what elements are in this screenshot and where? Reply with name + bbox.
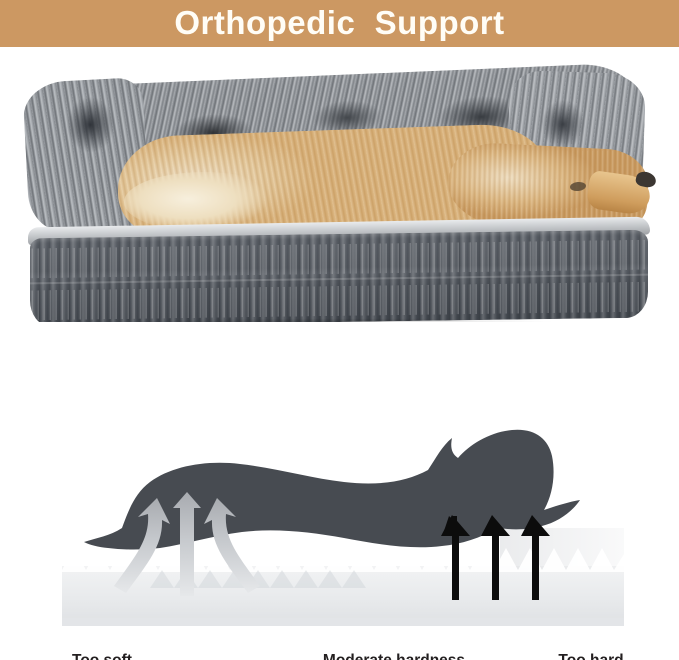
- foam-diagram-svg: [0, 420, 679, 660]
- mattress-texture-lower: [30, 282, 648, 321]
- foam-cross-section-diagram: Increased Airflow Soothes Pressure Point…: [0, 420, 679, 660]
- page-title: Orthopedic Support: [174, 6, 504, 41]
- infographic-page: Orthopedic Support: [0, 0, 679, 660]
- hardness-scale: Too soft 1 Lack of support Moderate hard…: [0, 322, 679, 420]
- pressure-point-arrows: [441, 515, 550, 600]
- header-banner: Orthopedic Support: [0, 0, 679, 47]
- mattress-base: [30, 230, 648, 322]
- dog-bed-illustration: [8, 72, 670, 322]
- mattress-texture-upper: [30, 240, 648, 279]
- product-photo: [0, 47, 679, 322]
